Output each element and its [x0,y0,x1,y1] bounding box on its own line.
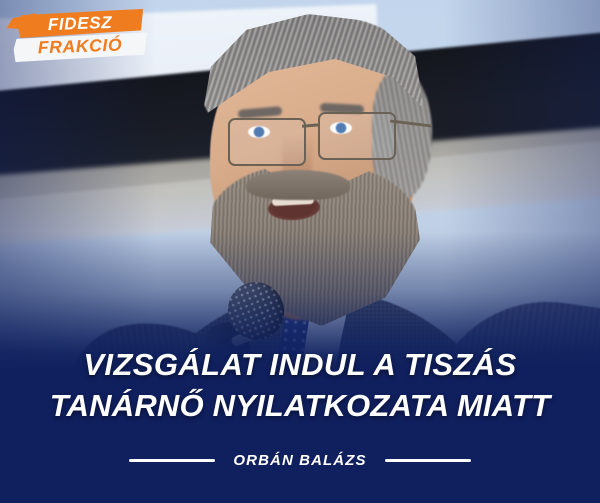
byline-name: ORBÁN BALÁZS [233,452,366,469]
byline-rule-left [129,459,215,462]
logo-text-fidesz: FIDESZ [47,14,112,33]
headline: VIZSGÁLAT INDUL A TISZÁS TANÁRNŐ NYILATK… [0,344,600,426]
logo-text-frakcio: FRAKCIÓ [37,37,122,57]
headline-line-2: TANÁRNŐ NYILATKOZATA MIATT [0,385,600,426]
headline-line-1: VIZSGÁLAT INDUL A TISZÁS [0,344,600,385]
fidesz-frakcio-logo[interactable]: FIDESZ FRAKCIÓ [14,10,164,66]
blue-gradient-overlay [0,0,600,503]
byline-rule-right [385,459,471,462]
photo-background [0,0,600,503]
byline-row: ORBÁN BALÁZS [0,452,600,469]
social-media-card: FIDESZ FRAKCIÓ VIZSGÁLAT INDUL A TISZÁS … [0,0,600,503]
